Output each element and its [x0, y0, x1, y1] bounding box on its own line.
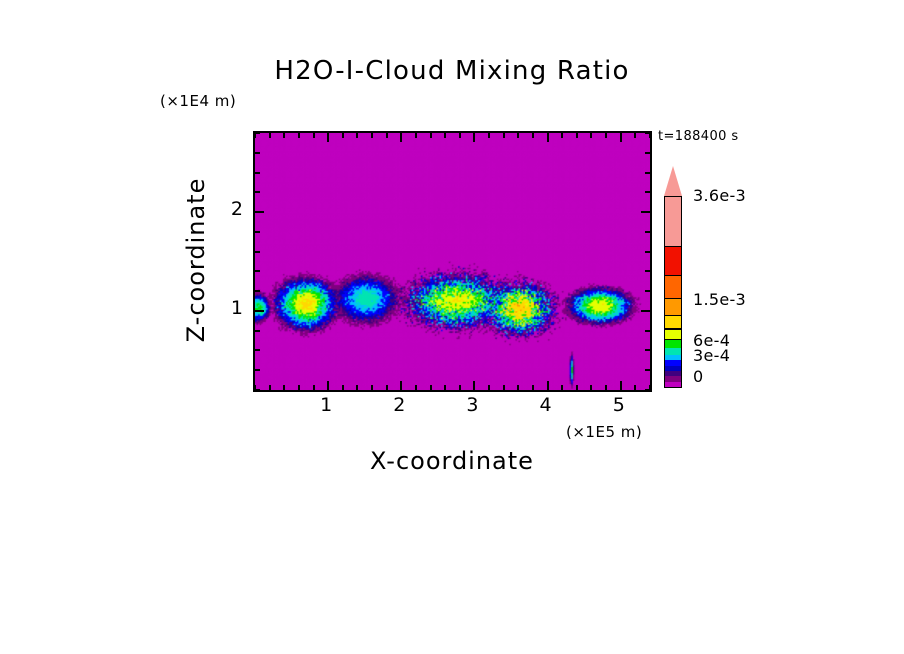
colorbar [664, 196, 682, 388]
x-minor-tick [503, 385, 505, 390]
colorbar-tick-label: 3e-4 [693, 346, 730, 365]
colorbar-tick-label: 3.6e-3 [693, 186, 746, 205]
x-axis-title: X-coordinate [0, 447, 904, 475]
y-minor-tick [255, 172, 260, 174]
x-major-tick [400, 381, 402, 390]
x-minor-tick-top [444, 133, 446, 138]
y-minor-tick-right [645, 231, 650, 233]
x-minor-tick [444, 385, 446, 390]
x-minor-tick [605, 385, 607, 390]
x-minor-tick-top [634, 133, 636, 138]
x-minor-tick [517, 385, 519, 390]
y-major-tick-right [641, 310, 650, 312]
y-minor-tick-right [645, 369, 650, 371]
y-major-tick [255, 211, 264, 213]
y-axis-unit-label: (×1E4 m) [160, 92, 236, 110]
colorbar-band [665, 371, 681, 376]
x-tick-label: 1 [306, 394, 346, 416]
x-minor-tick-top [269, 133, 271, 138]
x-minor-tick [415, 385, 417, 390]
y-minor-tick-right [645, 152, 650, 154]
page-title: H2O-I-Cloud Mixing Ratio [0, 56, 904, 86]
x-minor-tick-top [459, 133, 461, 138]
y-minor-tick [255, 349, 260, 351]
x-minor-tick-top [517, 133, 519, 138]
y-minor-tick-right [645, 172, 650, 174]
x-minor-tick-top [371, 133, 373, 138]
colorbar-band [665, 196, 681, 247]
x-minor-tick [269, 385, 271, 390]
x-major-tick [547, 381, 549, 390]
x-minor-tick [313, 385, 315, 390]
y-minor-tick-right [645, 270, 650, 272]
x-minor-tick [342, 385, 344, 390]
x-minor-tick-top [356, 133, 358, 138]
colorbar-band [665, 360, 681, 365]
colorbar-separator [665, 339, 681, 341]
colorbar-band [665, 366, 681, 371]
x-minor-tick-top [342, 133, 344, 138]
y-major-tick [255, 310, 264, 312]
colorbar-band [665, 247, 681, 276]
x-tick-label: 2 [379, 394, 419, 416]
x-major-tick [327, 381, 329, 390]
colorbar-separator [665, 246, 681, 248]
y-minor-tick [255, 251, 260, 253]
x-minor-tick-top [576, 133, 578, 138]
colorbar-band [665, 376, 681, 381]
y-minor-tick-right [645, 251, 650, 253]
x-minor-tick-top [503, 133, 505, 138]
x-minor-tick [532, 385, 534, 390]
y-minor-tick-right [645, 330, 650, 332]
colorbar-separator [665, 315, 681, 317]
y-minor-tick [255, 270, 260, 272]
x-minor-tick [298, 385, 300, 390]
colorbar-tick-label: 0 [693, 367, 703, 386]
colorbar-separator [665, 298, 681, 300]
x-minor-tick-top [532, 133, 534, 138]
x-minor-tick-top [488, 133, 490, 138]
colorbar-band [665, 276, 681, 299]
y-minor-tick [255, 330, 260, 332]
x-minor-tick-top [590, 133, 592, 138]
x-minor-tick [430, 385, 432, 390]
y-minor-tick-right [645, 290, 650, 292]
y-minor-tick-right [645, 349, 650, 351]
x-major-tick [473, 381, 475, 390]
x-minor-tick [634, 385, 636, 390]
x-minor-tick [576, 385, 578, 390]
x-minor-tick [561, 385, 563, 390]
figure-canvas: H2O-I-Cloud Mixing Ratio (×1E4 m) (×1E5 … [0, 0, 904, 654]
colorbar-separator [665, 275, 681, 277]
x-minor-tick [386, 385, 388, 390]
x-major-tick-top [400, 133, 402, 142]
y-tick-label: 1 [213, 297, 243, 319]
x-minor-tick [283, 385, 285, 390]
x-tick-label: 3 [452, 394, 492, 416]
colorbar-band [665, 355, 681, 360]
colorbar-band [665, 340, 681, 348]
x-minor-tick-top [415, 133, 417, 138]
y-minor-tick-right [645, 132, 650, 134]
colorbar-body [664, 196, 682, 388]
y-major-tick-right [641, 211, 650, 213]
y-axis-title: Z-coordinate [182, 178, 210, 343]
x-minor-tick-top [313, 133, 315, 138]
x-major-tick-top [620, 133, 622, 142]
x-minor-tick [356, 385, 358, 390]
colorbar-arrow-icon [664, 166, 682, 196]
y-minor-tick [255, 369, 260, 371]
x-minor-tick-top [386, 133, 388, 138]
x-tick-label: 4 [526, 394, 566, 416]
y-minor-tick [255, 231, 260, 233]
x-minor-tick-top [561, 133, 563, 138]
x-minor-tick [590, 385, 592, 390]
y-minor-tick [255, 191, 260, 193]
colorbar-band [665, 348, 681, 355]
x-minor-tick [488, 385, 490, 390]
x-minor-tick-top [283, 133, 285, 138]
y-minor-tick-right [645, 191, 650, 193]
y-tick-label: 2 [213, 198, 243, 220]
contour-plot-panel [253, 131, 652, 392]
y-minor-tick-right [645, 389, 650, 391]
x-axis-unit-label: (×1E5 m) [566, 423, 642, 441]
time-stamp-annotation: t=188400 s [658, 129, 739, 144]
colorbar-tick-label: 1.5e-3 [693, 290, 746, 309]
colorbar-separator [665, 328, 681, 330]
y-minor-tick [255, 389, 260, 391]
x-tick-label: 5 [599, 394, 639, 416]
x-major-tick-top [547, 133, 549, 142]
y-minor-tick [255, 152, 260, 154]
x-minor-tick-top [430, 133, 432, 138]
y-minor-tick [255, 132, 260, 134]
x-major-tick-top [473, 133, 475, 142]
x-major-tick-top [327, 133, 329, 142]
contour-field [255, 133, 650, 390]
colorbar-band [665, 299, 681, 316]
x-major-tick [620, 381, 622, 390]
x-minor-tick-top [605, 133, 607, 138]
y-minor-tick [255, 290, 260, 292]
x-minor-tick [459, 385, 461, 390]
x-minor-tick-top [298, 133, 300, 138]
colorbar-band [665, 382, 681, 387]
x-minor-tick [371, 385, 373, 390]
